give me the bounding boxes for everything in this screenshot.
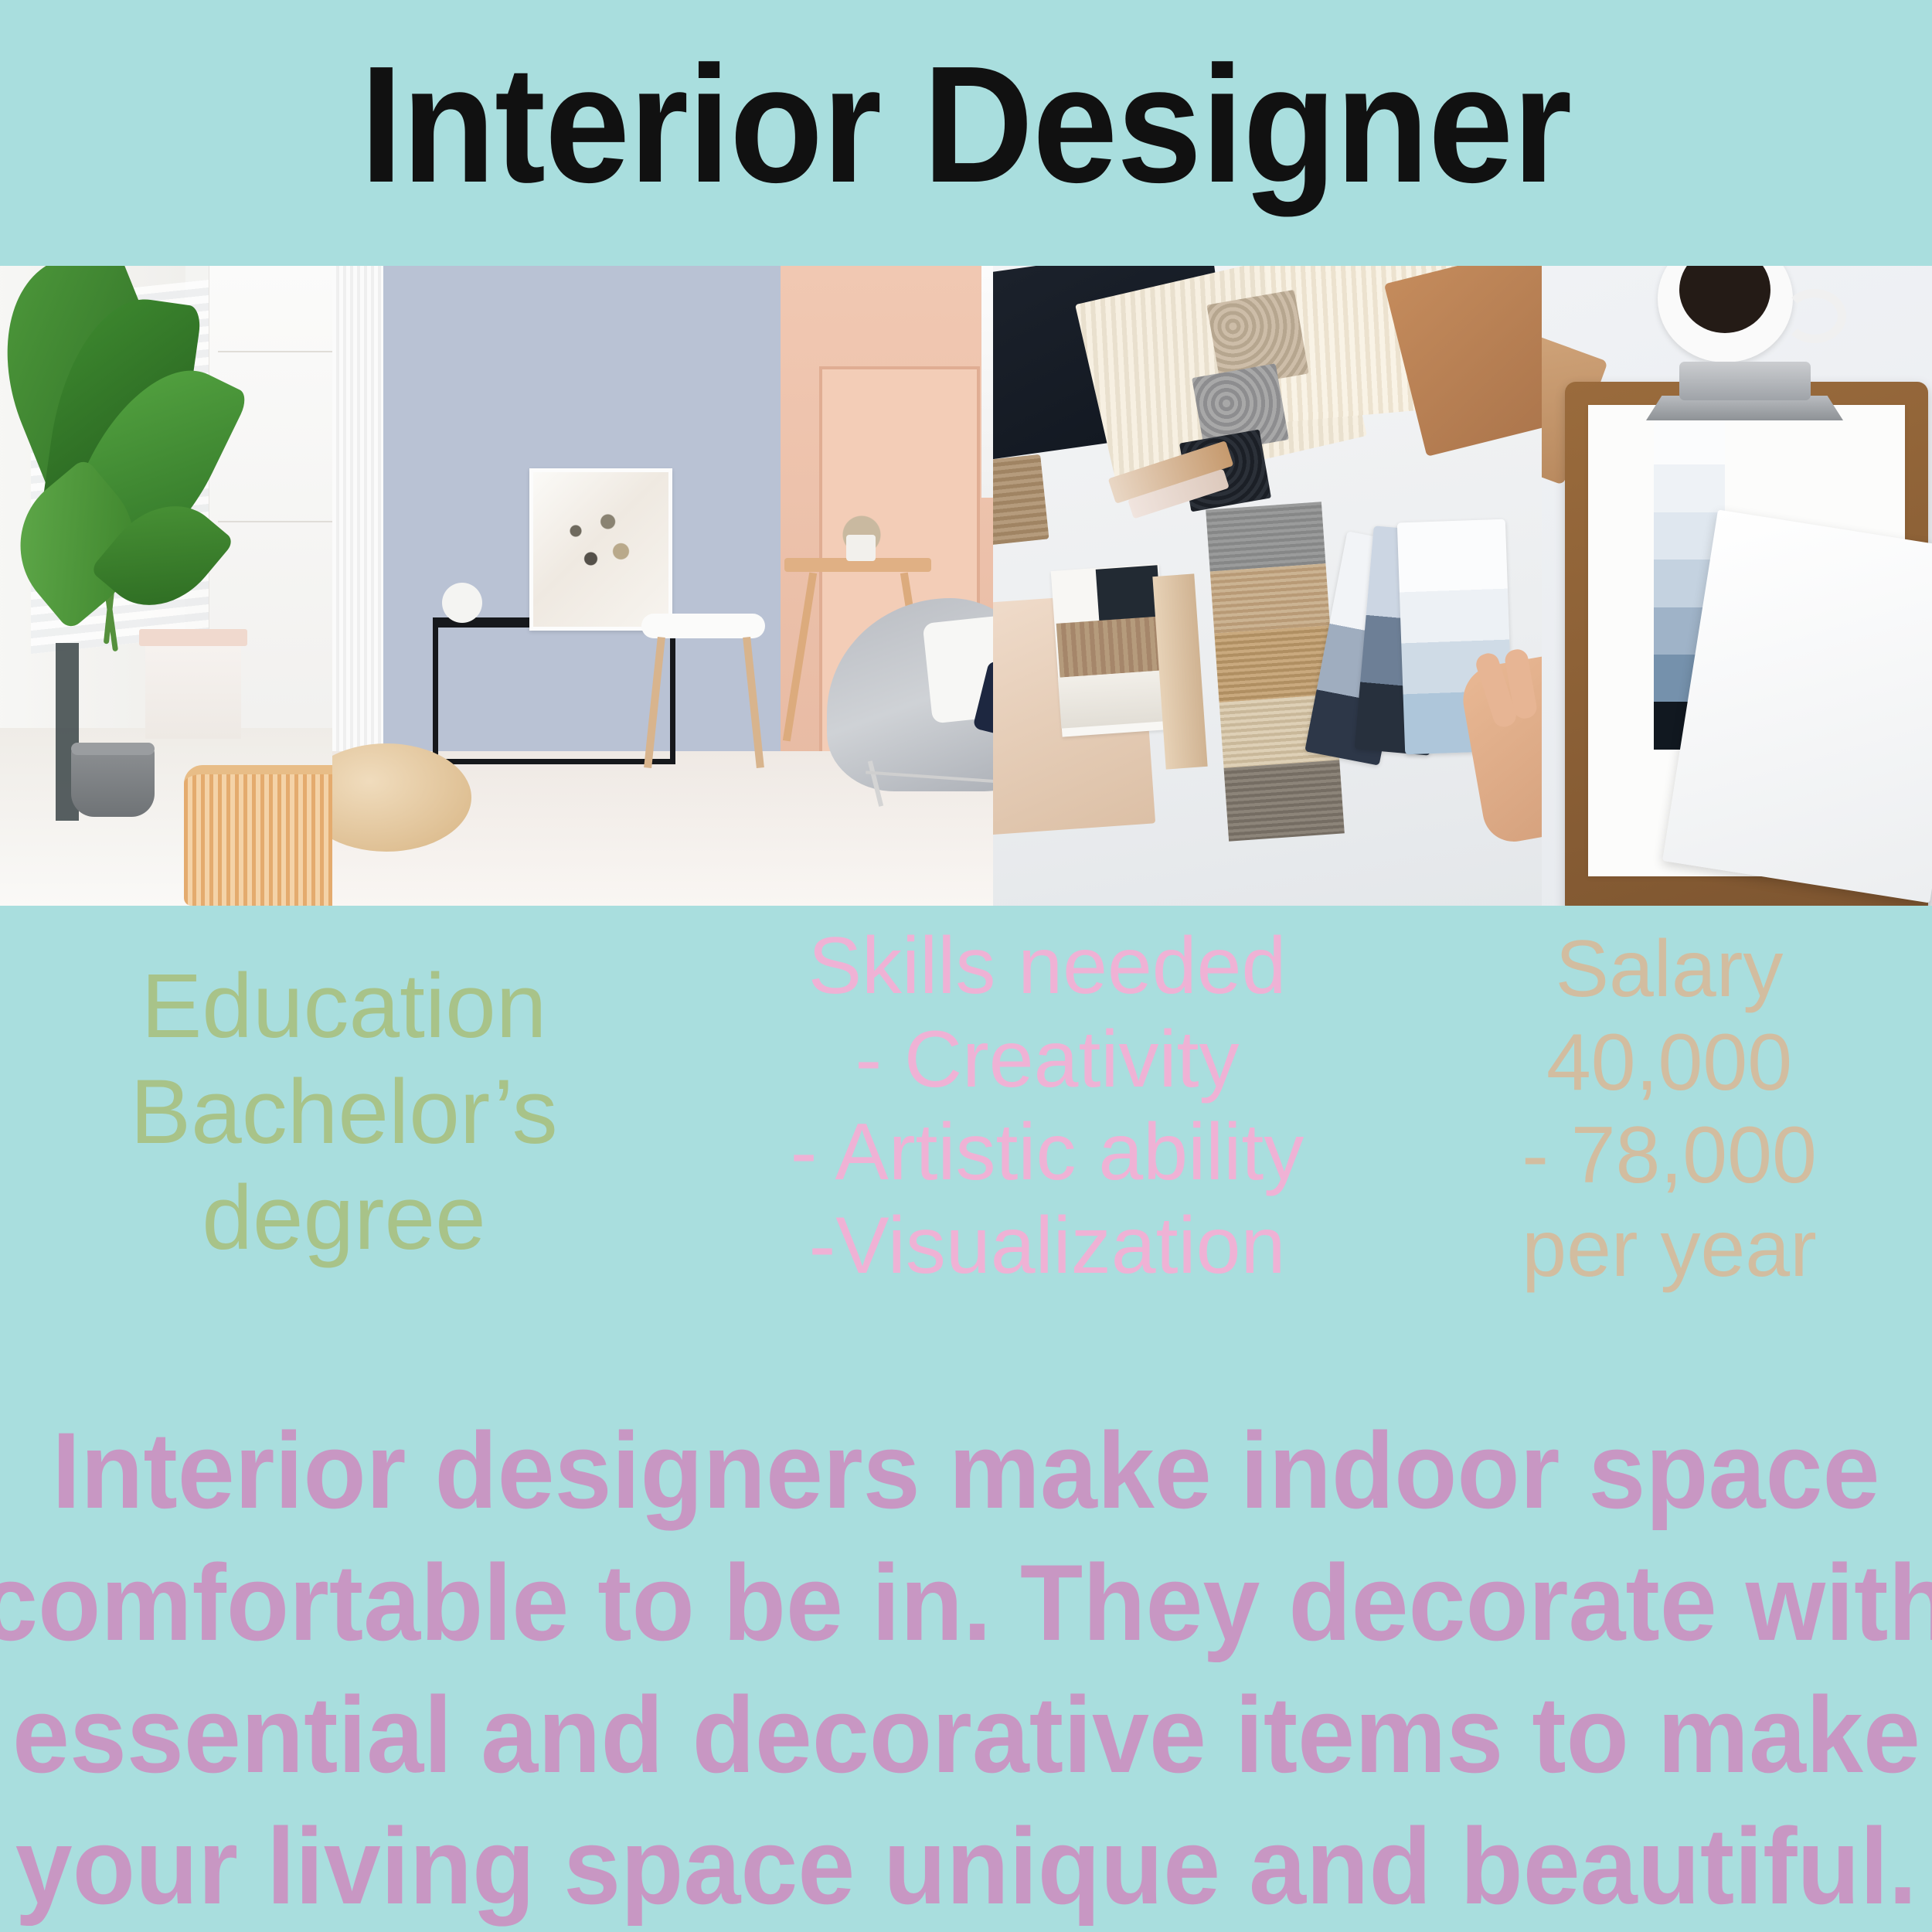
photo-clipboard-with-paint-swatches [1542, 266, 1932, 906]
photo-material-sample-flatlay [993, 266, 1542, 906]
bench-top [139, 629, 247, 646]
bench-base [145, 646, 241, 739]
round-vase [442, 583, 482, 623]
small-plant-pot [846, 535, 876, 561]
facts-columns: Education Bachelor’s degree Skills neede… [0, 906, 1932, 1393]
clipboard-clip [1679, 362, 1811, 400]
skills-line-1: Skills needed [808, 920, 1287, 1013]
cabinet-line [218, 521, 332, 522]
page-title: Interior Designer [360, 41, 1571, 226]
skills-line-4: -Visualization [809, 1199, 1286, 1293]
description-line-4: your living space unique and beautiful. [15, 1801, 1917, 1932]
description-line-2: comfortable to be in. They decorate with [0, 1537, 1932, 1669]
title-band: Interior Designer [0, 0, 1932, 266]
description-line-1: Interior designers make indoor space [52, 1405, 1879, 1537]
salary-line-3: - 78,000 [1522, 1109, 1817, 1202]
photo-strip [0, 266, 1932, 906]
column-education: Education Bachelor’s degree [0, 906, 688, 1271]
skills-line-3: - Artistic ability [791, 1106, 1304, 1199]
salary-line-2: 40,000 [1546, 1016, 1792, 1110]
photo-white-interior-with-plant [0, 266, 332, 906]
veneer-strip [1210, 563, 1330, 633]
description-paragraph: Interior designers make indoor space com… [0, 1391, 1932, 1932]
skills-line-2: - Creativity [855, 1013, 1240, 1107]
education-line-1: Education [141, 954, 547, 1060]
salary-line-4: per year [1522, 1202, 1817, 1296]
rattan-ottoman [184, 765, 332, 906]
infographic-poster: Interior Designer [0, 0, 1932, 1932]
description-line-3: essential and decorative items to make [12, 1669, 1920, 1801]
sample-card-white-patch [1058, 670, 1166, 728]
white-stool-seat [641, 614, 765, 638]
sample-card-wood-patch [1056, 616, 1167, 677]
white-wall-right [981, 266, 993, 498]
photo-scandinavian-living-room [332, 266, 993, 906]
wood-veneer-sample [993, 454, 1049, 546]
tan-leather-swatch [1384, 266, 1542, 457]
education-line-3: degree [202, 1165, 485, 1271]
veneer-strip [1224, 760, 1345, 841]
framed-artwork [529, 468, 672, 631]
wood-beam-sample [1152, 573, 1207, 769]
cabinet-line [218, 351, 332, 352]
white-column [332, 266, 383, 776]
veneer-strip [1206, 502, 1325, 571]
plant-pot [71, 743, 155, 817]
black-console-table [433, 617, 675, 764]
education-line-2: Bachelor’s [130, 1060, 557, 1165]
column-salary: Salary 40,000 - 78,000 per year [1406, 906, 1932, 1296]
cup-handle [1783, 289, 1846, 343]
salary-line-1: Salary [1556, 923, 1784, 1016]
column-skills: Skills needed - Creativity - Artistic ab… [688, 906, 1406, 1293]
sample-card-black-patch [1096, 565, 1162, 621]
